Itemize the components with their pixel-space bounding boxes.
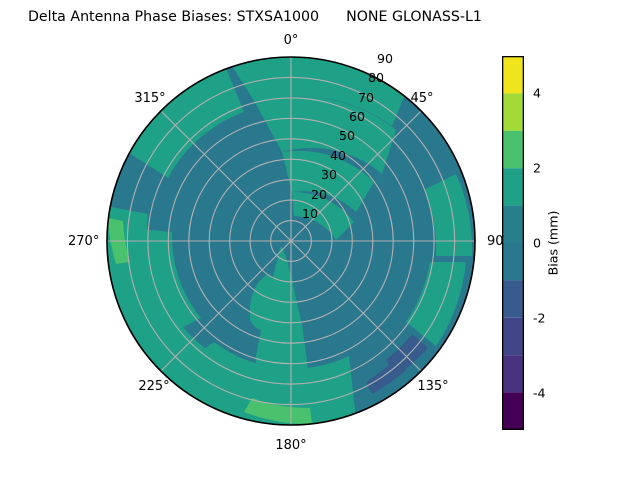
angle-tick-315: 315° [134, 91, 165, 106]
angle-tick-225: 225° [138, 379, 169, 394]
radial-tick-70: 70 [358, 90, 374, 105]
colorbar-tick-neg4: -4 [533, 385, 546, 400]
radial-tick-60: 60 [349, 109, 365, 124]
colorbar-tick-0: 0 [533, 236, 541, 251]
angle-tick-270: 270° [68, 234, 99, 249]
figure-canvas: Delta Antenna Phase Biases: STXSA1000 NO… [0, 0, 640, 480]
radial-tick-90: 90 [377, 51, 393, 66]
colorbar-tick-neg2: -2 [533, 310, 546, 325]
colorbar-axis-label: Bias (mm) [546, 211, 561, 276]
angle-tick-0: 0° [284, 33, 299, 48]
polar-axes[interactable] [106, 56, 476, 426]
radial-tick-20: 20 [311, 187, 327, 202]
colorbar-gradient [502, 56, 524, 430]
polar-plot-svg [106, 56, 476, 426]
colorbar-tick-2: 2 [533, 161, 541, 176]
angle-tick-135: 135° [417, 379, 448, 394]
colorbar-bands [502, 56, 524, 430]
angle-tick-45: 45° [410, 91, 433, 106]
page-title: Delta Antenna Phase Biases: STXSA1000 NO… [28, 9, 482, 25]
radial-tick-50: 50 [339, 128, 355, 143]
colorbar[interactable]: 4 2 0 -2 -4 [502, 56, 524, 430]
radial-tick-40: 40 [330, 148, 346, 163]
colorbar-tick-4: 4 [533, 86, 541, 101]
angle-tick-180: 180° [275, 438, 306, 453]
polar-grid-spokes [107, 57, 475, 425]
radial-tick-80: 80 [368, 70, 384, 85]
radial-tick-10: 10 [302, 206, 318, 221]
radial-tick-30: 30 [321, 167, 337, 182]
